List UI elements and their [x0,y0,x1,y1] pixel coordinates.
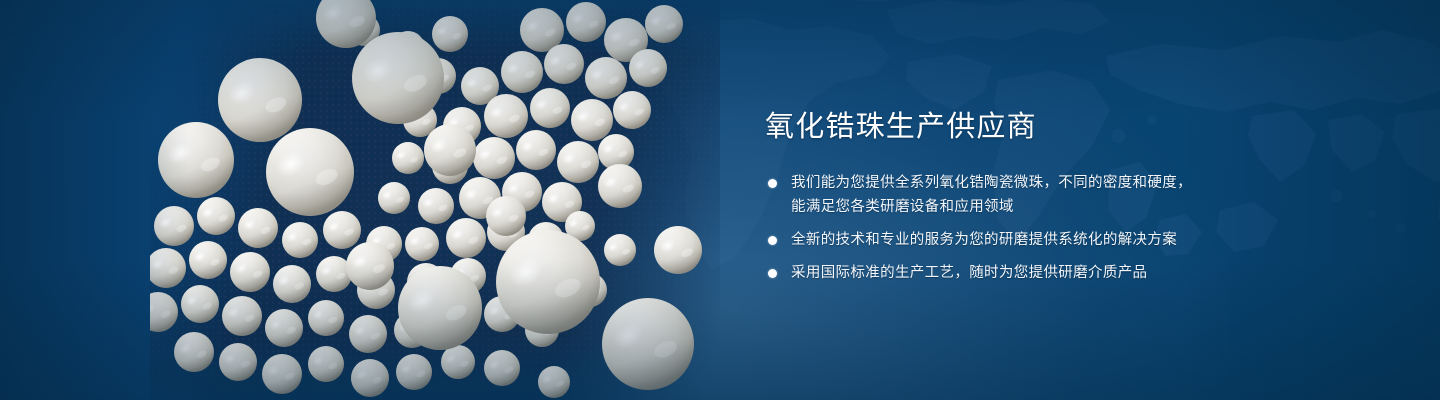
list-item: 采用国际标准的生产工艺，随时为您提供研磨介质产品 [765,261,1385,285]
feature-list: 我们能为您提供全系列氧化锆陶瓷微珠，不同的密度和硬度， 能满足您各类研磨设备和应… [765,171,1385,285]
zirconia-beads-photo [150,0,720,400]
bullet-dot-icon [768,236,777,245]
list-item: 全新的技术和专业的服务为您的研磨提供系统化的解决方案 [765,228,1385,252]
list-item-line: 能满足您各类研磨设备和应用领域 [791,195,1385,219]
list-item-line: 采用国际标准的生产工艺，随时为您提供研磨介质产品 [791,261,1385,285]
banner-copy: 氧化锆珠生产供应商 我们能为您提供全系列氧化锆陶瓷微珠，不同的密度和硬度， 能满… [765,108,1385,285]
list-item-line: 全新的技术和专业的服务为您的研磨提供系统化的解决方案 [791,228,1385,252]
hero-banner: 氧化锆珠生产供应商 我们能为您提供全系列氧化锆陶瓷微珠，不同的密度和硬度， 能满… [0,0,1440,400]
bullet-dot-icon [768,179,777,188]
list-item-line: 我们能为您提供全系列氧化锆陶瓷微珠，不同的密度和硬度， [791,171,1385,195]
list-item: 我们能为您提供全系列氧化锆陶瓷微珠，不同的密度和硬度， 能满足您各类研磨设备和应… [765,171,1385,219]
page-title: 氧化锆珠生产供应商 [765,108,1385,146]
bullet-dot-icon [768,269,777,278]
bead-cluster-illustration [150,0,720,400]
